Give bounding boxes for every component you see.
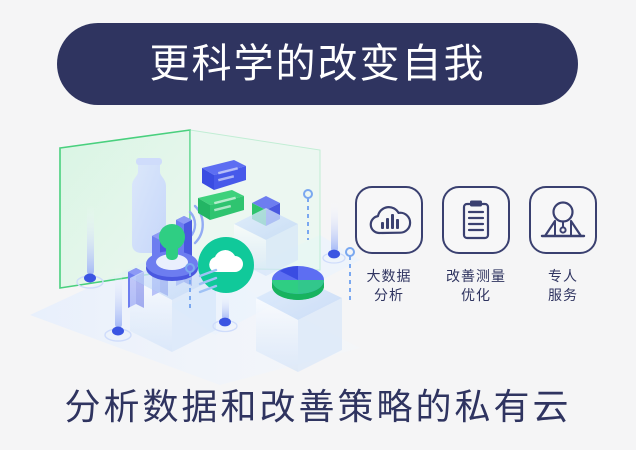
promo-poster: 更科学的改变自我: [0, 0, 636, 450]
feature-label: 专人 服务: [548, 267, 578, 305]
hero-illustration: [20, 120, 360, 385]
feature-label-line2: 分析: [367, 286, 412, 305]
feature-item-big-data[interactable]: 大数据 分析: [352, 186, 426, 336]
feature-list: 大数据 分析 改善测量 优化: [352, 186, 600, 336]
cloud-bar-chart-icon: [366, 200, 412, 240]
feature-label: 大数据 分析: [367, 267, 412, 305]
feature-label: 改善测量 优化: [446, 267, 506, 305]
clipboard-lines-icon: [456, 198, 496, 242]
feature-label-line2: 服务: [548, 286, 578, 305]
support-agent-icon: [539, 198, 587, 242]
feature-badge: [442, 186, 510, 254]
pie-chart-3d: [272, 266, 324, 300]
feature-item-support[interactable]: 专人 服务: [526, 186, 600, 336]
headline-banner: 更科学的改变自我: [57, 23, 578, 105]
feature-label-line1: 大数据: [367, 267, 412, 286]
feature-label-line1: 专人: [548, 267, 578, 286]
feature-badge: [529, 186, 597, 254]
feature-item-measurement[interactable]: 改善测量 优化: [439, 186, 513, 336]
footer-tagline: 分析数据和改善策略的私有云: [0, 378, 636, 430]
feature-badge: [355, 186, 423, 254]
feature-label-line1: 改善测量: [446, 267, 506, 286]
headline-text: 更科学的改变自我: [150, 44, 486, 84]
feature-label-line2: 优化: [446, 286, 506, 305]
